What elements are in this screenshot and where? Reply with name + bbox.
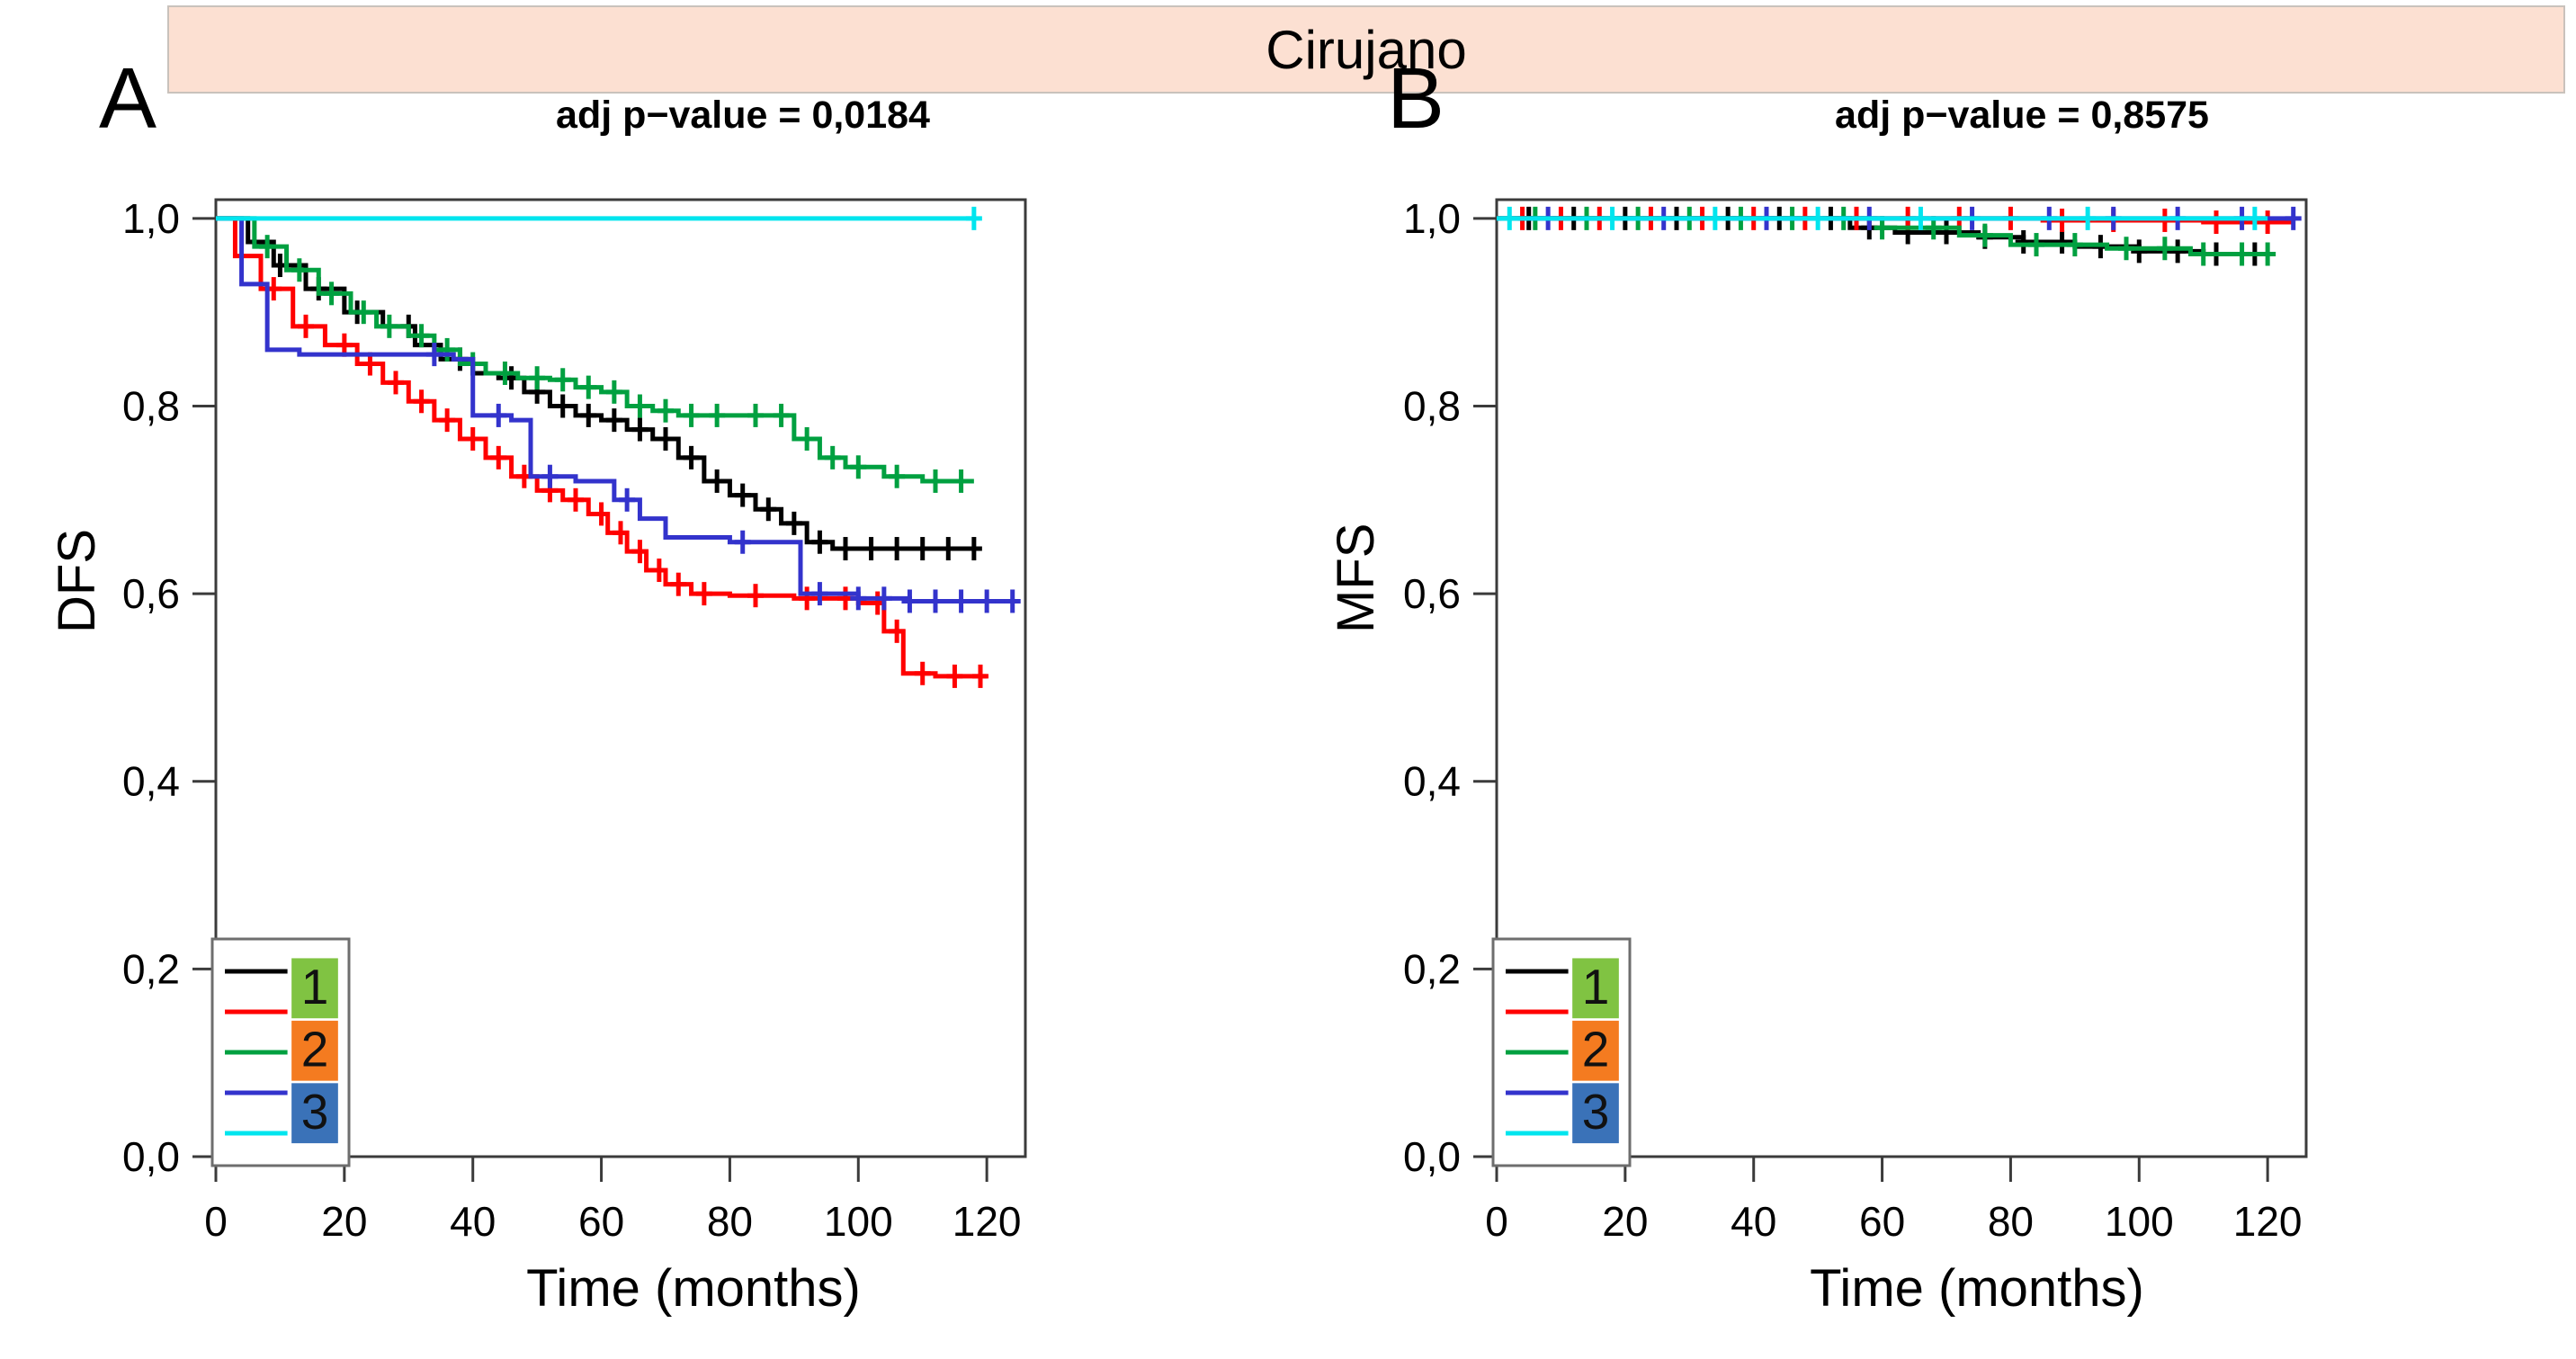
km-curve-green [216,219,974,481]
y-tick-label: 0,4 [1403,758,1461,805]
legend-chip-label: 1 [301,959,329,1015]
legend-chip-label: 2 [1582,1022,1610,1077]
x-tick-label: 80 [707,1198,753,1245]
legend-chip-label: 1 [1582,959,1610,1015]
x-tick-label: 20 [1602,1198,1648,1245]
x-tick-label: 0 [1485,1198,1508,1245]
panel-a-plot-area: 0,00,20,40,60,81,0020406080100120123 [0,94,1288,1359]
km-curve-black [216,219,974,549]
x-tick-label: 120 [953,1198,1022,1245]
x-tick-label: 100 [824,1198,893,1245]
legend: 123 [1493,939,1630,1166]
panel-b-plot-area: 0,00,20,40,60,81,0020406080100120123 [1288,94,2576,1359]
legend-chip-label: 3 [301,1084,329,1140]
panel-strip-header: Cirujano [167,5,2565,94]
x-tick-label: 120 [2233,1198,2303,1245]
y-tick-label: 0,2 [122,945,180,992]
y-tick-label: 1,0 [122,195,180,242]
panel-b: B adj p−value = 0,8575 MFS Time (months)… [1288,94,2576,1359]
y-tick-label: 0,8 [1403,382,1461,429]
y-tick-label: 0,6 [1403,570,1461,617]
legend: 123 [212,939,349,1166]
x-tick-label: 40 [450,1198,496,1245]
y-tick-label: 0,0 [1403,1133,1461,1180]
y-tick-label: 0,6 [122,570,180,617]
legend-chip-label: 2 [301,1022,329,1077]
x-tick-label: 20 [321,1198,367,1245]
x-tick-label: 60 [578,1198,624,1245]
x-tick-label: 80 [1988,1198,2034,1245]
legend-chip-label: 3 [1582,1084,1610,1140]
panel-a: A adj p−value = 0,0184 DFS Time (months)… [0,94,1288,1359]
x-tick-label: 100 [2105,1198,2174,1245]
x-tick-label: 40 [1731,1198,1776,1245]
x-tick-label: 60 [1859,1198,1905,1245]
y-tick-label: 0,8 [122,382,180,429]
y-tick-label: 0,0 [122,1133,180,1180]
y-tick-label: 0,4 [122,758,180,805]
y-tick-label: 1,0 [1403,195,1461,242]
x-tick-label: 0 [204,1198,228,1245]
y-tick-label: 0,2 [1403,945,1461,992]
